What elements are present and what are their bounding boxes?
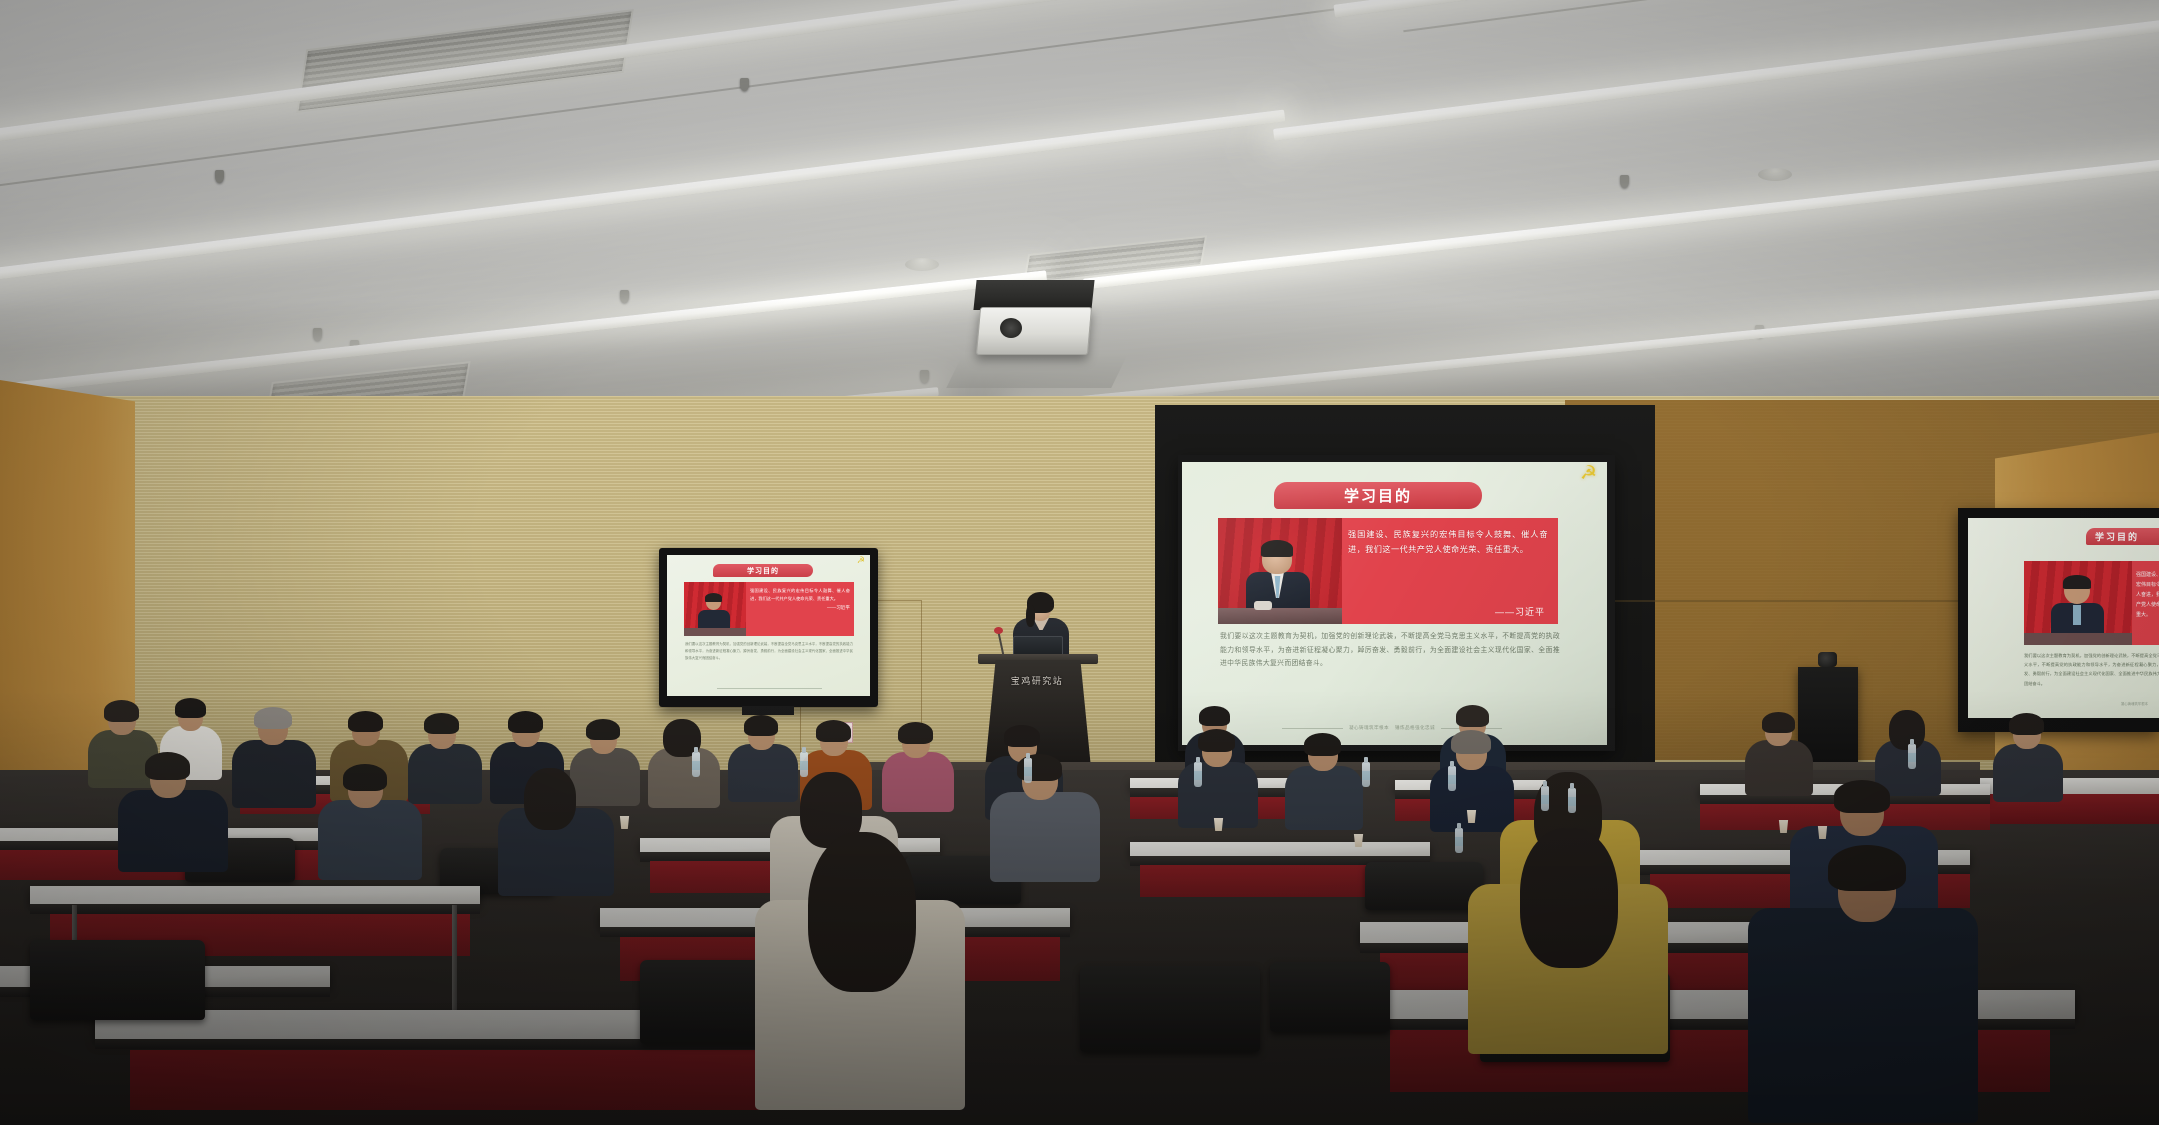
photo-microphone-icon xyxy=(1254,601,1272,610)
person-hair xyxy=(1199,706,1230,726)
person-hair xyxy=(1834,780,1890,813)
slide-body-text: 我们要以这次主题教育为契机，加强党的创新理论武装，不断提高全党马克思主义水平，不… xyxy=(1220,630,1560,671)
person-hair xyxy=(175,698,206,718)
slide-quote-card: 强国建设、民族复兴的宏伟目标令人鼓舞、催人奋进，我们这一代共产党人使命光荣、责任… xyxy=(684,582,854,636)
slide-quote-text: 强国建设、民族复兴的宏伟目标令人鼓舞、催人奋进，我们这一代共产党人使命光荣、责任… xyxy=(750,587,850,603)
slide-quote-area: 强国建设、民族复兴的宏伟目标令人鼓舞、催人奋进，我们这一代共产党人使命光荣、责任… xyxy=(1342,518,1558,624)
person-body xyxy=(570,748,640,806)
person-body xyxy=(882,752,954,812)
slide-title-banner: 学习目的 xyxy=(1274,482,1482,509)
desk-skirt xyxy=(130,1050,770,1110)
slide-quote-card: 强国建设、民族复兴的宏伟目标令人鼓舞、催人奋进，我们这一代共产党人使命光荣、责任… xyxy=(1218,518,1558,624)
person-hair xyxy=(744,715,778,736)
water-bottle xyxy=(1455,828,1463,853)
person-hair xyxy=(145,752,190,780)
slide-quote-text: 强国建设、民族复兴的宏伟目标令人鼓舞、催人奋进，我们这一代共产党人使命光荣、责任… xyxy=(1348,527,1548,557)
projector-lens-icon xyxy=(1000,318,1022,338)
photo-figure-hair xyxy=(705,593,722,602)
water-bottle xyxy=(1448,766,1456,791)
party-emblem-icon: ☭ xyxy=(1580,464,1597,483)
left-flat-panel-tv: ☭ 学习目的 强国建设、民族复兴的宏伟目标令人鼓舞、催人奋进，我们这一代共产党人… xyxy=(667,555,870,696)
desk-leg xyxy=(452,905,457,1015)
person-hair xyxy=(2009,713,2044,735)
person-hair xyxy=(524,768,576,830)
slide-leader-photo xyxy=(2024,561,2132,645)
water-bottle xyxy=(1024,758,1032,783)
photo-figure-tie xyxy=(2073,605,2081,625)
sprinkler-icon xyxy=(1620,175,1629,188)
slide-quote-text: 强国建设、民族复兴的宏伟目标令人鼓舞、催人奋进，我们这一代共产党人使命光荣、责任… xyxy=(2132,561,2159,645)
water-bottle xyxy=(1194,762,1202,787)
person-hair xyxy=(1889,710,1925,750)
desk xyxy=(30,886,480,905)
slide-title: 学习目的 xyxy=(1344,485,1412,506)
person-hair xyxy=(1828,845,1906,891)
person-hair xyxy=(104,700,139,722)
photo-desk xyxy=(684,628,746,636)
ceiling-light-strip xyxy=(1083,151,2159,289)
person-body xyxy=(1745,740,1813,796)
person-hair xyxy=(1762,712,1795,733)
person-hair xyxy=(343,764,387,791)
chair xyxy=(1080,966,1260,1052)
sprinkler-icon xyxy=(740,78,749,91)
photo-figure-hair xyxy=(2063,575,2091,589)
person-hair xyxy=(1304,733,1341,756)
slide-footer-left: 凝心铸魂筑牢根本 xyxy=(2078,701,2148,706)
camera-icon xyxy=(1818,652,1837,667)
photo-desk xyxy=(2024,633,2132,645)
person-hair xyxy=(1520,828,1618,968)
person-hair xyxy=(808,832,916,992)
person-body xyxy=(1285,766,1363,830)
person-hair xyxy=(1451,730,1491,754)
ceiling-light-strip xyxy=(1333,0,2159,18)
presenter-hair xyxy=(1026,605,1035,627)
ceiling-light-strip xyxy=(1273,7,2159,141)
person-hair xyxy=(508,711,543,733)
water-bottle xyxy=(692,752,700,777)
person-hair xyxy=(1456,705,1489,727)
person-body xyxy=(318,800,422,880)
person-body xyxy=(232,740,316,808)
person-body xyxy=(118,790,228,872)
ceiling-seam xyxy=(1403,0,2159,32)
water-bottle xyxy=(1568,788,1576,813)
water-bottle xyxy=(800,752,808,777)
slide-quote-area: 强国建设、民族复兴的宏伟目标令人鼓舞、催人奋进，我们这一代共产党人使命光荣、责任… xyxy=(746,582,854,636)
photo-desk xyxy=(1218,608,1342,624)
slide-body-text: 我们要以这次主题教育为契机，加强党的创新理论武装，不断提高全党马克思主义水平，不… xyxy=(685,641,853,662)
person-hair xyxy=(1198,729,1235,752)
sprinkler-icon xyxy=(215,170,224,183)
microphone-icon xyxy=(994,627,1003,634)
slide-title: 学习目的 xyxy=(2086,528,2159,545)
person-hair xyxy=(424,713,459,734)
footer-rule-left xyxy=(1282,728,1343,729)
right-flat-panel-tv: 学习目的 强国建设、民族复兴的宏伟目标令人鼓舞、催人奋进，我们这一代共产党人使命… xyxy=(1968,518,2159,718)
desk xyxy=(1130,842,1430,857)
water-bottle xyxy=(1908,744,1916,769)
slide-footer-rule xyxy=(717,688,822,689)
person-body xyxy=(990,792,1100,882)
slide-footer-right: 锤炼品格强化忠诚 xyxy=(1395,725,1435,731)
slide-body-text: 我们要以这次主题教育为契机，加强党的创新理论武装，不断提高全党马克思主义水平，不… xyxy=(2024,651,2159,688)
slide-footer-left: 凝心铸魂筑牢根本 xyxy=(1349,725,1389,731)
main-projection-screen: ☭ 学习目的 强国建设、民族复兴的宏伟目标令人鼓舞、催人奋进，我们这一代共产党人… xyxy=(1182,462,1607,745)
chair xyxy=(1365,862,1483,910)
slide-quote-attribution: ——习近平 xyxy=(750,605,850,611)
podium-sign-text: 宝鸡研究站 xyxy=(1000,673,1074,688)
person-hair xyxy=(1004,725,1040,747)
person-hair xyxy=(898,722,933,744)
person-body xyxy=(1748,908,1978,1123)
projector-mount-plate xyxy=(946,352,1129,388)
chair xyxy=(1270,962,1390,1032)
person-body xyxy=(1993,744,2063,802)
person-body xyxy=(728,744,798,802)
slide-title: 学习目的 xyxy=(713,564,813,577)
slide-quote-card: 强国建设、民族复兴的宏伟目标令人鼓舞、催人奋进，我们这一代共产党人使命光荣、责任… xyxy=(2024,561,2159,645)
water-bottle xyxy=(1541,786,1549,811)
photo-scene: 消火栓 ☭ 学习目的 强国建设、民族复兴的宏伟目标令人鼓舞、催人奋进，我们这一代… xyxy=(0,0,2159,1125)
slide-leader-photo xyxy=(1218,518,1342,624)
slide-leader-photo xyxy=(684,582,746,636)
smoke-detector-icon xyxy=(1758,168,1792,181)
projector-bracket xyxy=(973,280,1094,310)
photo-figure-hair xyxy=(1261,540,1293,557)
water-bottle xyxy=(1362,762,1370,787)
tv-stand xyxy=(742,706,794,715)
slide-quote-attribution: ——习近平 xyxy=(1348,605,1548,618)
person-hair xyxy=(348,711,383,732)
person-hair xyxy=(254,707,292,729)
smoke-detector-icon xyxy=(905,258,939,271)
chair xyxy=(30,940,205,1020)
person-body xyxy=(408,744,482,804)
party-emblem-icon: ☭ xyxy=(857,556,865,565)
person-hair xyxy=(586,719,620,740)
ceiling-projector xyxy=(976,307,1092,355)
person-hair xyxy=(816,720,851,742)
person-body xyxy=(648,748,720,808)
